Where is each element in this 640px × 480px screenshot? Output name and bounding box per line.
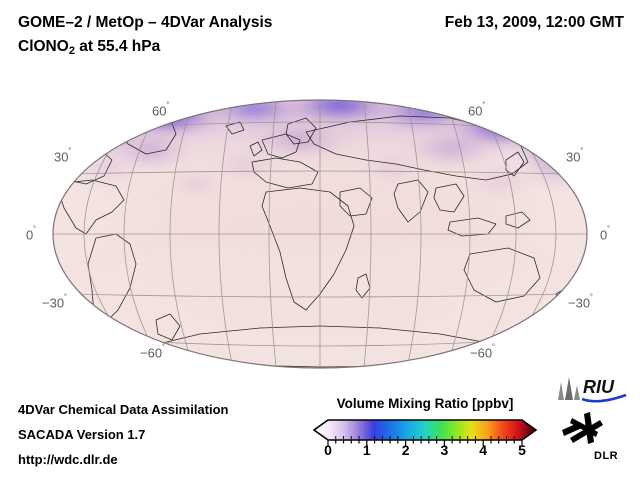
dlr-wordmark: DLR [594, 450, 618, 462]
riu-wordmark: RIU [583, 377, 615, 397]
species-subtitle: ClONO2 at 55.4 hPa [18, 38, 160, 56]
world-map [0, 88, 640, 380]
riu-logo: RIU [556, 374, 628, 404]
lat-label-left-m30: −30˚ [42, 294, 67, 310]
lat-label-right-0: 0˚ [600, 226, 610, 242]
lat-label-right-m60: −60˚ [470, 344, 495, 360]
lat-label-right-60: 60˚ [468, 102, 485, 118]
page-title: GOME–2 / MetOp – 4DVar Analysis [18, 14, 272, 32]
colorbar: Volume Mixing Ratio [ppbv] 012345 [300, 396, 550, 472]
dlr-emblem-icon [562, 412, 603, 444]
footer-line-2: SACADA Version 1.7 [18, 427, 145, 442]
colorbar-tick-4: 4 [479, 442, 487, 458]
lat-label-right-m30: −30˚ [568, 294, 593, 310]
species-subscript: 2 [69, 45, 75, 57]
riu-bars-icon [558, 377, 580, 400]
lat-label-right-30: 30˚ [566, 148, 583, 164]
lat-label-left-60: 60˚ [152, 102, 169, 118]
figure-root: GOME–2 / MetOp – 4DVar Analysis ClONO2 a… [0, 0, 640, 480]
colorbar-tick-1: 1 [363, 442, 371, 458]
colorbar-title: Volume Mixing Ratio [ppbv] [300, 396, 550, 411]
colorbar-gradient [314, 420, 536, 440]
colorbar-tick-3: 3 [440, 442, 448, 458]
timestamp: Feb 13, 2009, 12:00 GMT [445, 14, 624, 32]
footer-line-1: 4DVar Chemical Data Assimilation [18, 402, 229, 417]
colorbar-tick-5: 5 [518, 442, 526, 458]
species-name: ClONO [18, 38, 69, 55]
lat-label-left-30: 30˚ [54, 148, 71, 164]
map-panel: 60˚ 30˚ 0˚ −30˚ −60˚ 60˚ 30˚ 0˚ −30˚ −60… [0, 88, 640, 380]
lat-label-left-m60: −60˚ [140, 344, 165, 360]
pressure-level: at 55.4 hPa [75, 38, 160, 55]
footer-line-3[interactable]: http://wdc.dlr.de [18, 452, 118, 467]
colorbar-tick-2: 2 [402, 442, 410, 458]
lat-label-left-0: 0˚ [26, 226, 36, 242]
colorbar-tick-labels: 012345 [300, 442, 550, 462]
dlr-logo-mark [560, 408, 608, 450]
colorbar-tick-0: 0 [324, 442, 332, 458]
